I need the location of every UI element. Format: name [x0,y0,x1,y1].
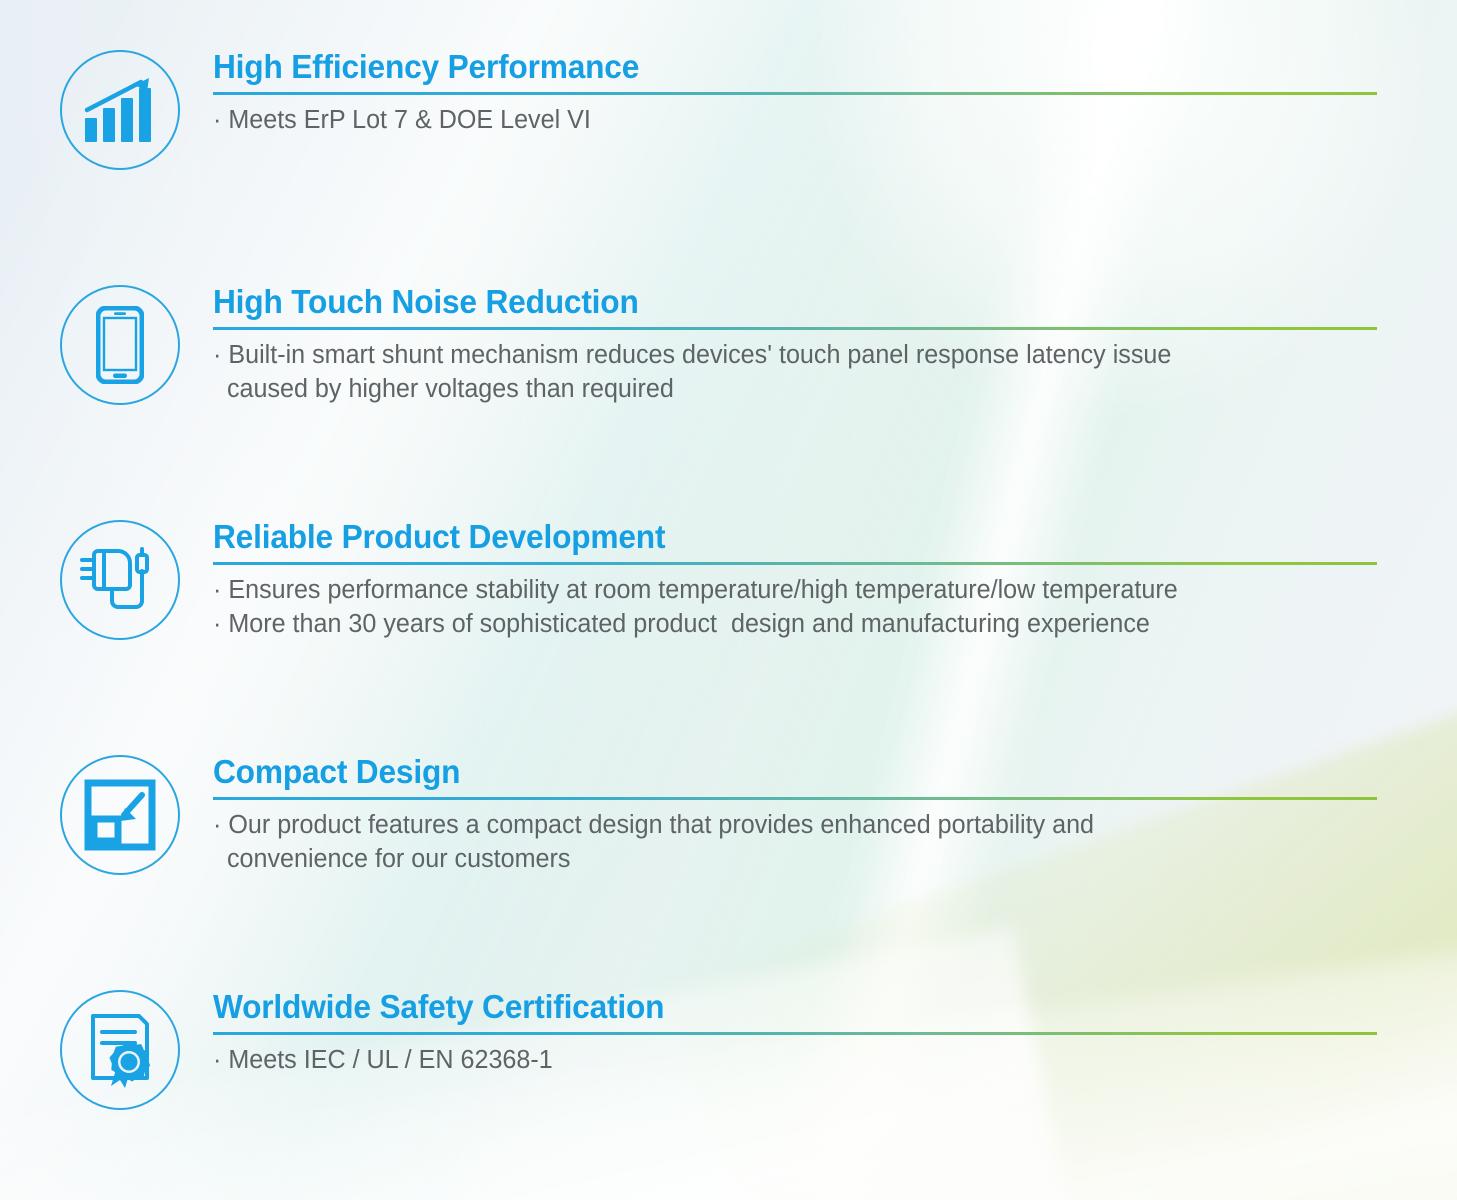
smartphone-icon [60,285,180,405]
feature-line: convenience for our customers [213,843,1360,877]
feature-body: Reliable Product Development · Ensures p… [213,520,1377,642]
certificate-award-icon [60,990,180,1110]
feature-title: Worldwide Safety Certification [213,990,1330,1023]
feature-description: · Meets ErP Lot 7 & DOE Level VI [213,104,1377,138]
feature-line: caused by higher voltages than required [213,373,1360,407]
feature-list: High Efficiency Performance · Meets ErP … [0,0,1457,1200]
feature-title: Reliable Product Development [213,520,1330,553]
feature-description: · Ensures performance stability at room … [213,574,1377,642]
feature-line: · Our product features a compact design … [213,809,1360,843]
feature-body: Worldwide Safety Certification · Meets I… [213,990,1377,1078]
feature-line: · More than 30 years of sophisticated pr… [213,608,1360,642]
bar-chart-growth-icon [60,50,180,170]
feature-title: Compact Design [213,755,1330,788]
feature-line: · Meets ErP Lot 7 & DOE Level VI [213,104,1360,138]
feature-description: · Meets IEC / UL / EN 62368-1 [213,1044,1377,1078]
compact-resize-icon [60,755,180,875]
power-adapter-icon [60,520,180,640]
feature-divider [213,797,1377,800]
feature-divider [213,562,1377,565]
feature-title: High Efficiency Performance [213,50,1330,83]
feature-description: · Built-in smart shunt mechanism reduces… [213,339,1377,407]
feature-divider [213,92,1377,95]
feature-body: Compact Design · Our product features a … [213,755,1377,877]
feature-description: · Our product features a compact design … [213,809,1377,877]
feature-line: · Ensures performance stability at room … [213,574,1360,608]
feature-divider [213,327,1377,330]
feature-line: · Meets IEC / UL / EN 62368-1 [213,1044,1360,1078]
feature-body: High Efficiency Performance · Meets ErP … [213,50,1377,138]
feature-title: High Touch Noise Reduction [213,285,1330,318]
feature-divider [213,1032,1377,1035]
feature-highlights-page: High Efficiency Performance · Meets ErP … [0,0,1457,1200]
feature-body: High Touch Noise Reduction · Built-in sm… [213,285,1377,407]
feature-line: · Built-in smart shunt mechanism reduces… [213,339,1360,373]
